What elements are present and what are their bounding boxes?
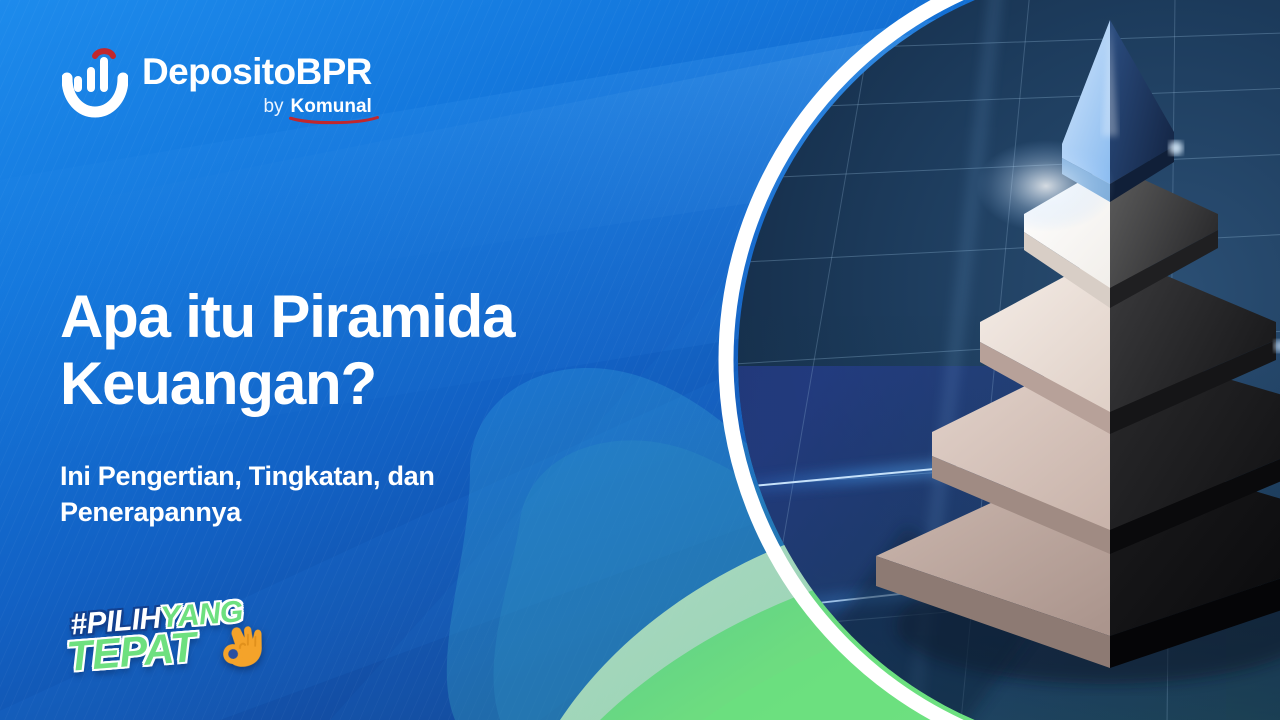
campaign-hashtag-badge: # PILIH YANG TEPAT: [63, 589, 299, 693]
brand-parent-name: Komunal: [291, 97, 372, 116]
headline-line-2: Keuangan?: [60, 350, 750, 417]
brand-logo[interactable]: DepositoBPR by Komunal: [62, 48, 372, 118]
brand-underline-swoosh: [289, 116, 379, 125]
ok-hand-emoji: [210, 613, 272, 675]
subheadline-line-2: Penerapannya: [60, 495, 660, 530]
badge-word-tepat: TEPAT: [65, 623, 197, 681]
bar-chart-smile-icon: [62, 48, 128, 118]
page-subtitle: Ini Pengertian, Tingkatan, dan Penerapan…: [60, 459, 660, 529]
page-title: Apa itu Piramida Keuangan?: [60, 283, 750, 417]
brand-by-label: by: [263, 97, 283, 116]
brand-subline: by Komunal: [263, 97, 371, 116]
brand-logo-text: DepositoBPR by Komunal: [142, 48, 372, 116]
promo-banner: DepositoBPR by Komunal Apa itu Piramida …: [0, 0, 1280, 720]
pyramid-artwork: [706, 0, 1280, 720]
brand-parent-label: Komunal: [291, 96, 372, 117]
badge-line-2: TEPAT: [65, 623, 197, 681]
headline-line-1: Apa itu Piramida: [60, 283, 514, 350]
subheadline-line-1: Ini Pengertian, Tingkatan, dan: [60, 461, 435, 491]
brand-title: DepositoBPR: [142, 53, 372, 90]
